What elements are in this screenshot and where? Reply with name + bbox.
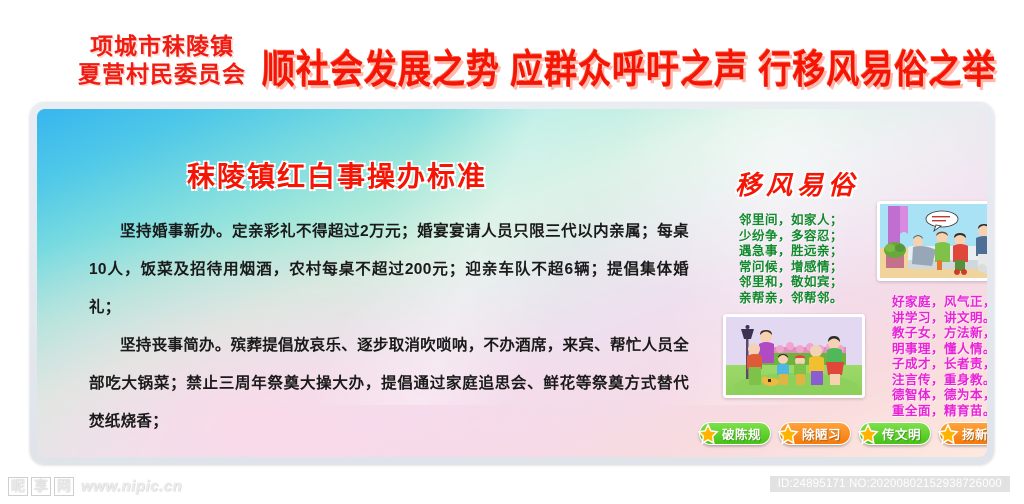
green-verse-line: 少纷争，多容忍； [705, 229, 877, 245]
watermark-url: www.nipic.cn [81, 478, 182, 495]
pink-verse-line: 注言传，重身教。 [869, 372, 987, 388]
pink-verse-line: 明事理，懂人情。 [869, 341, 987, 357]
board-surface: 秣陵镇红白事操办标准 坚持婚事新办。定亲彩礼不得超过2万元；婚宴宴请人员只限三代… [37, 109, 987, 457]
badge-label: 传文明 [882, 424, 921, 443]
site-watermark: 昵 享 网 www.nipic.cn [8, 477, 182, 496]
watermark-logo: 昵 享 网 [8, 477, 74, 496]
badge-yang-xin-feng[interactable]: 扬新风 [939, 422, 987, 445]
pink-verse-line: 好家庭，风气正， [869, 294, 987, 310]
standards-paragraph-wedding: 坚持婚事新办。定亲彩礼不得超过2万元；婚宴宴请人员只限三代以内亲属；每桌10人，… [89, 213, 689, 327]
poster-canvas: 项城市秣陵镇 夏营村民委员会 顺社会发展之势 应群众呼吁之声 行移风易俗之举 秣… [0, 0, 1024, 504]
header-slogan: 顺社会发展之势 应群众呼吁之声 行移风易俗之举 [262, 38, 1002, 95]
green-verse-line: 亲帮亲，邻帮邻。 [705, 291, 877, 307]
organization-name-line1: 项城市秣陵镇 [62, 32, 262, 60]
standards-body-text: 坚持婚事新办。定亲彩礼不得超过2万元；婚宴宴请人员只限三代以内亲属；每桌10人，… [89, 213, 689, 441]
pink-verse-line: 德智体，德为本， [869, 387, 987, 403]
watermark-logo-char: 网 [54, 477, 74, 496]
star-icon [697, 423, 719, 445]
slogan-badge-row: 破陈规 除陋习 传文明 [699, 422, 987, 452]
green-verse-line: 邻里和，敬如宾； [705, 275, 877, 291]
pink-verse-line: 重全面，精育苗。 [869, 403, 987, 419]
badge-chu-lou-xi[interactable]: 除陋习 [779, 422, 851, 445]
star-icon [777, 423, 799, 445]
pink-verse-line: 讲学习，讲文明。 [869, 310, 987, 326]
badge-po-chen-gui[interactable]: 破陈规 [699, 422, 771, 445]
star-icon [857, 423, 879, 445]
watermark-logo-char: 享 [31, 477, 51, 496]
board-frame: 秣陵镇红白事操办标准 坚持婚事新办。定亲彩礼不得超过2万元；婚宴宴请人员只限三代… [30, 102, 994, 464]
asset-id-watermark: ID:24895171 NO:20200802152938726000 [770, 476, 1010, 492]
pink-verse-block: 好家庭，风气正， 讲学习，讲文明。 教子女，方法新， 明事理，懂人情。 子成才，… [869, 294, 987, 418]
standards-paragraph-funeral: 坚持丧事简办。殡葬提倡放哀乐、逐步取消吹唢呐，不办酒席，来宾、帮忙人员全部吃大锅… [89, 327, 689, 441]
star-icon [937, 423, 959, 445]
document-title: 秣陵镇红白事操办标准 [187, 155, 487, 195]
organization-name: 项城市秣陵镇 夏营村民委员会 [62, 32, 262, 88]
green-verse-line: 邻里间，如家人； [705, 213, 877, 229]
pink-verse-line: 子成才，长者责， [869, 356, 987, 372]
badge-label: 扬新风 [962, 424, 987, 443]
badge-label: 除陋习 [802, 424, 841, 443]
organization-name-line2: 夏营村民委员会 [62, 60, 262, 88]
poster-header: 项城市秣陵镇 夏营村民委员会 顺社会发展之势 应群众呼吁之声 行移风易俗之举 [0, 0, 1024, 96]
pink-verse-line: 教子女，方法新， [869, 325, 987, 341]
family-sofa-illustration [877, 201, 987, 281]
green-verse-block: 邻里间，如家人； 少纷争，多容忍； 遇急事，胜远亲； 常问候，增感情； 邻里和，… [705, 213, 877, 306]
green-verse-line: 常问候，增感情； [705, 260, 877, 276]
badge-chuan-wen-ming[interactable]: 传文明 [859, 422, 931, 445]
watermark-logo-char: 昵 [8, 477, 28, 496]
badge-label: 破陈规 [722, 424, 761, 443]
yifengyisu-title: 移风易俗 [712, 165, 882, 202]
green-verse-line: 遇急事，胜远亲； [705, 244, 877, 260]
park-family-illustration [723, 314, 865, 398]
